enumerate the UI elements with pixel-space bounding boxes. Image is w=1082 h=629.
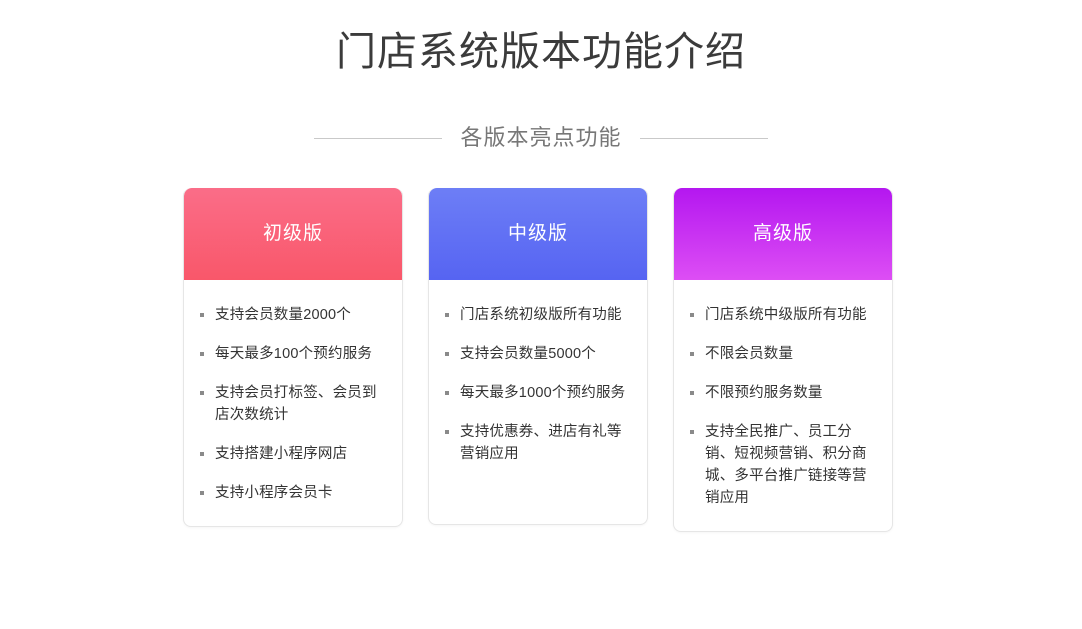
card-header-intermediate: 中级版 [429,188,647,280]
feature-text: 支持全民推广、员工分销、短视频营销、积分商城、多平台推广链接等营销应用 [705,424,867,506]
pricing-card-beginner[interactable]: 初级版 支持会员数量2000个 每天最多100个预约服务 支持会员打标签、会员到… [183,188,403,527]
bullet-icon [690,313,694,317]
bullet-icon [445,313,449,317]
list-item: 每天最多1000个预约服务 [443,382,631,404]
pricing-card-list: 初级版 支持会员数量2000个 每天最多100个预约服务 支持会员打标签、会员到… [183,188,895,532]
list-item: 门店系统中级版所有功能 [688,304,876,326]
list-item: 支持小程序会员卡 [198,482,386,504]
list-item: 支持全民推广、员工分销、短视频营销、积分商城、多平台推广链接等营销应用 [688,421,876,509]
list-item: 支持优惠券、进店有礼等营销应用 [443,421,631,465]
pricing-card-advanced[interactable]: 高级版 门店系统中级版所有功能 不限会员数量 不限预约服务数量 [673,188,893,532]
feature-text: 每天最多100个预约服务 [215,346,372,362]
list-item: 不限会员数量 [688,343,876,365]
card-body-intermediate: 门店系统初级版所有功能 支持会员数量5000个 每天最多1000个预约服务 支持… [429,280,647,524]
feature-text: 门店系统初级版所有功能 [460,307,622,323]
card-header-advanced: 高级版 [674,188,892,280]
list-item: 支持会员数量2000个 [198,304,386,326]
list-item: 支持会员数量5000个 [443,343,631,365]
list-item: 门店系统初级版所有功能 [443,304,631,326]
feature-text: 支持会员数量2000个 [215,307,351,323]
feature-text: 支持搭建小程序网店 [215,446,347,462]
bullet-icon [690,352,694,356]
list-item: 不限预约服务数量 [688,382,876,404]
bullet-icon [445,352,449,356]
pricing-tiers-page: 门店系统版本功能介绍 各版本亮点功能 初级版 支持会员数量2000个 每天最多1… [0,0,1082,629]
card-title-advanced: 高级版 [753,220,813,248]
section-subtitle: 各版本亮点功能 [0,122,1082,154]
bullet-icon [200,352,204,356]
feature-text: 不限预约服务数量 [705,385,823,401]
feature-text: 支持会员打标签、会员到店次数统计 [215,385,377,423]
card-body-beginner: 支持会员数量2000个 每天最多100个预约服务 支持会员打标签、会员到店次数统… [184,280,402,526]
bullet-icon [200,452,204,456]
list-item: 每天最多100个预约服务 [198,343,386,365]
page-title: 门店系统版本功能介绍 [0,24,1082,80]
feature-text: 支持小程序会员卡 [215,485,333,501]
feature-text: 门店系统中级版所有功能 [705,307,867,323]
section-subtitle-label: 各版本亮点功能 [460,122,621,154]
feature-list-advanced: 门店系统中级版所有功能 不限会员数量 不限预约服务数量 支持全民推广、员工分销、… [688,304,876,509]
divider-line-right [640,138,768,139]
bullet-icon [690,391,694,395]
pricing-card-intermediate[interactable]: 中级版 门店系统初级版所有功能 支持会员数量5000个 每天最多1000个预约服… [428,188,648,525]
bullet-icon [445,391,449,395]
feature-text: 每天最多1000个预约服务 [460,385,625,401]
list-item: 支持搭建小程序网店 [198,443,386,465]
bullet-icon [200,491,204,495]
bullet-icon [200,391,204,395]
card-body-advanced: 门店系统中级版所有功能 不限会员数量 不限预约服务数量 支持全民推广、员工分销、… [674,280,892,531]
bullet-icon [445,430,449,434]
bullet-icon [200,313,204,317]
card-title-beginner: 初级版 [263,220,323,248]
feature-text: 支持会员数量5000个 [460,346,596,362]
feature-list-beginner: 支持会员数量2000个 每天最多100个预约服务 支持会员打标签、会员到店次数统… [198,304,386,504]
feature-text: 不限会员数量 [705,346,793,362]
card-header-beginner: 初级版 [184,188,402,280]
list-item: 支持会员打标签、会员到店次数统计 [198,382,386,426]
feature-text: 支持优惠券、进店有礼等营销应用 [460,424,622,462]
card-title-intermediate: 中级版 [508,220,568,248]
bullet-icon [690,430,694,434]
divider-line-left [314,138,442,139]
feature-list-intermediate: 门店系统初级版所有功能 支持会员数量5000个 每天最多1000个预约服务 支持… [443,304,631,465]
